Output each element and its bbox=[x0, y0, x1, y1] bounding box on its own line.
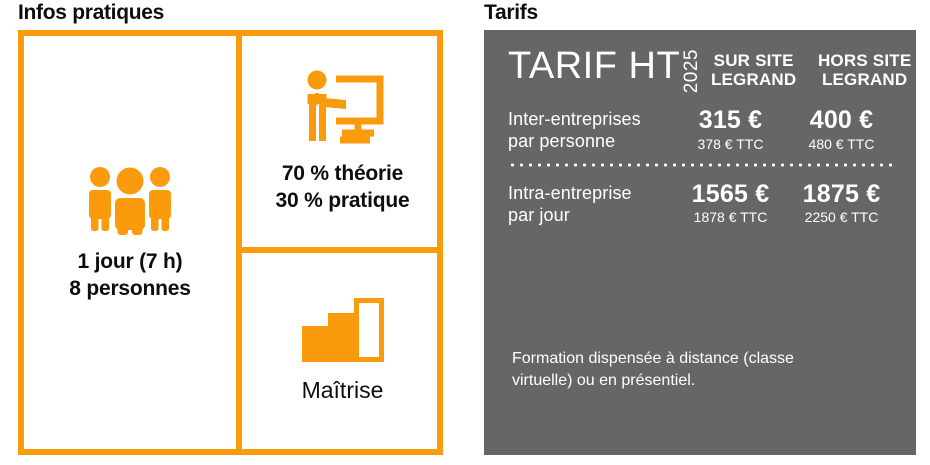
column-header-2-line-2: LEGRAND bbox=[812, 71, 917, 90]
price-ttc-1b: 480 € TTC bbox=[789, 135, 894, 153]
duration-line-2: 8 personnes bbox=[69, 276, 191, 303]
three-people-icon bbox=[84, 163, 176, 235]
table-row-intra-entreprise: Intra-entreprise par jour 1565 € 1878 € … bbox=[508, 181, 894, 227]
price-inter-sur-site: 315 € 378 € TTC bbox=[678, 107, 783, 152]
column-header-2-line-1: HORS SITE bbox=[812, 52, 917, 71]
row-separator-dotted bbox=[508, 163, 894, 167]
tarifs-table-header: TARIF HT 2025 SUR SITE LEGRAND HORS SITE… bbox=[508, 48, 894, 93]
bar-chart-icon bbox=[302, 296, 384, 362]
price-ttc-1a: 378 € TTC bbox=[678, 135, 783, 153]
duration-line-1: 1 jour (7 h) bbox=[69, 249, 191, 276]
level-label: Maîtrise bbox=[302, 376, 384, 405]
price-ht-2b: 1875 € bbox=[789, 181, 894, 207]
column-header-1-line-1: SUR SITE bbox=[701, 52, 806, 71]
cell-theory-practice: 70 % théorie 30 % pratique bbox=[242, 36, 443, 247]
row-label-intra-entreprise: Intra-entreprise par jour bbox=[508, 181, 678, 227]
column-header-sur-site-legrand: SUR SITE LEGRAND bbox=[701, 48, 806, 89]
price-ht-2a: 1565 € bbox=[678, 181, 783, 207]
tarif-heading: TARIF HT bbox=[508, 48, 680, 84]
infos-pratiques-panel: 1 jour (7 h) 8 personnes bbox=[18, 30, 443, 455]
tarifs-note-line-1: Formation dispensée à distance (classe bbox=[512, 348, 892, 370]
tarif-year: 2025 bbox=[682, 49, 701, 93]
page-title-tarifs: Tarifs bbox=[484, 2, 538, 23]
tarifs-panel: TARIF HT 2025 SUR SITE LEGRAND HORS SITE… bbox=[484, 30, 916, 455]
table-row-inter-entreprises: Inter-entreprises par personne 315 € 378… bbox=[508, 107, 894, 153]
price-intra-sur-site: 1565 € 1878 € TTC bbox=[678, 181, 783, 226]
split-line-2: 30 % pratique bbox=[276, 188, 410, 215]
duration-text: 1 jour (7 h) 8 personnes bbox=[69, 249, 191, 303]
price-ht-1b: 400 € bbox=[789, 107, 894, 133]
price-ttc-2a: 1878 € TTC bbox=[678, 208, 783, 226]
teacher-whiteboard-icon bbox=[300, 69, 386, 147]
column-header-1-line-2: LEGRAND bbox=[701, 71, 806, 90]
theory-practice-text: 70 % théorie 30 % pratique bbox=[276, 161, 410, 215]
column-header-hors-site-legrand: HORS SITE LEGRAND bbox=[812, 48, 917, 89]
row-1-label-line-1: Inter-entreprises bbox=[508, 109, 678, 131]
tarifs-note-line-2: virtuelle) ou en présentiel. bbox=[512, 370, 892, 392]
infos-grid: 1 jour (7 h) 8 personnes bbox=[24, 36, 437, 449]
row-2-label-line-1: Intra-entreprise bbox=[508, 183, 678, 205]
row-2-label-line-2: par jour bbox=[508, 205, 678, 227]
row-label-inter-entreprises: Inter-entreprises par personne bbox=[508, 107, 678, 153]
page-title-infos-pratiques: Infos pratiques bbox=[18, 2, 164, 23]
split-line-1: 70 % théorie bbox=[276, 161, 410, 188]
tarif-heading-group: TARIF HT 2025 bbox=[508, 48, 701, 93]
price-inter-hors-site: 400 € 480 € TTC bbox=[789, 107, 894, 152]
price-intra-hors-site: 1875 € 2250 € TTC bbox=[789, 181, 894, 226]
price-ttc-2b: 2250 € TTC bbox=[789, 208, 894, 226]
row-1-label-line-2: par personne bbox=[508, 131, 678, 153]
tarifs-note: Formation dispensée à distance (classe v… bbox=[512, 348, 892, 391]
price-ht-1a: 315 € bbox=[678, 107, 783, 133]
cell-level: Maîtrise bbox=[242, 253, 443, 449]
cell-duration: 1 jour (7 h) 8 personnes bbox=[24, 36, 236, 449]
